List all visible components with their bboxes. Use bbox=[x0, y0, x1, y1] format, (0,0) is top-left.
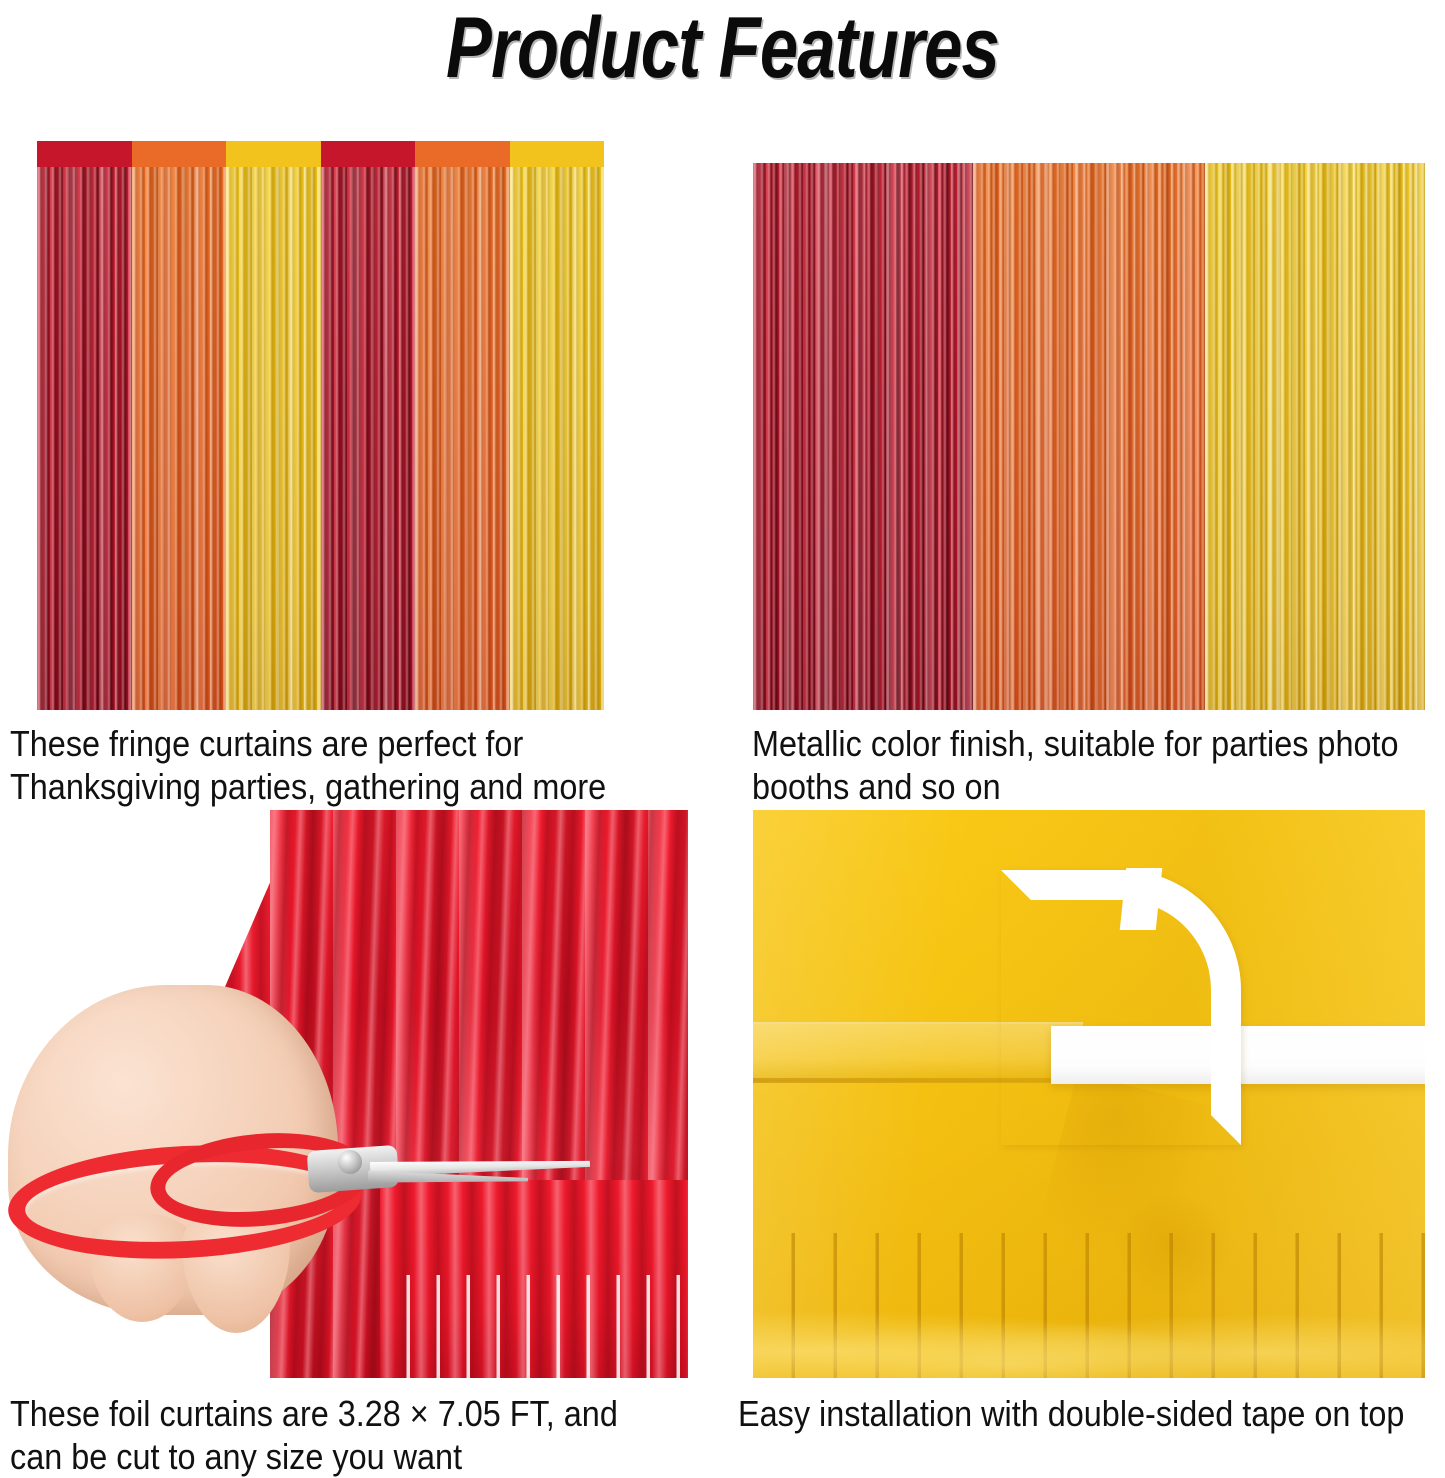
feature-caption-top-right: Metallic color finish, suitable for part… bbox=[752, 722, 1445, 808]
curtain-header-strip bbox=[226, 141, 321, 167]
feature-caption-top-left: These fringe curtains are perfect for Th… bbox=[10, 722, 721, 808]
curtain-band-red-1 bbox=[37, 141, 132, 710]
fringe-strands bbox=[321, 163, 415, 710]
feature-image-bottom-right bbox=[753, 810, 1425, 1378]
curtain-band-red-2 bbox=[321, 141, 415, 710]
feature-caption-bottom-right: Easy installation with double-sided tape… bbox=[738, 1392, 1445, 1435]
curtain-header-strip bbox=[415, 141, 510, 167]
fringe-strands bbox=[510, 163, 604, 710]
tape-peel-tip bbox=[1120, 868, 1163, 930]
fringe-strands bbox=[132, 163, 226, 710]
scissors-screw bbox=[338, 1150, 362, 1174]
fringe-strands bbox=[37, 163, 132, 710]
foil-band-red bbox=[753, 141, 973, 710]
foil-strands bbox=[973, 163, 1205, 710]
feature-image-bottom-left bbox=[0, 810, 688, 1378]
foil-strands bbox=[1205, 163, 1425, 710]
curtain-header-strip bbox=[510, 141, 604, 167]
feature-image-top-left bbox=[37, 141, 604, 710]
curtain-header-strip bbox=[321, 141, 415, 167]
fringe-strands bbox=[226, 163, 321, 710]
foil-strands bbox=[753, 163, 973, 710]
curtain-band-orange-1 bbox=[132, 141, 226, 710]
curtain-header-strip bbox=[37, 141, 132, 167]
curtain-band-orange-2 bbox=[415, 141, 510, 710]
curtain-band-yellow-1 bbox=[226, 141, 321, 710]
fringe-highlight bbox=[753, 1288, 1425, 1378]
page-title: Product Features bbox=[145, 2, 1301, 94]
feature-caption-bottom-left: These foil curtains are 3.28 × 7.05 FT, … bbox=[10, 1392, 721, 1478]
curtain-header-strip bbox=[132, 141, 226, 167]
red-foil-cut-section bbox=[380, 1180, 688, 1378]
feature-image-top-right bbox=[753, 141, 1425, 710]
foil-band-orange bbox=[973, 141, 1205, 710]
foil-band-yellow bbox=[1205, 141, 1425, 710]
curtain-band-yellow-2 bbox=[510, 141, 604, 710]
fringe-strands bbox=[415, 163, 510, 710]
